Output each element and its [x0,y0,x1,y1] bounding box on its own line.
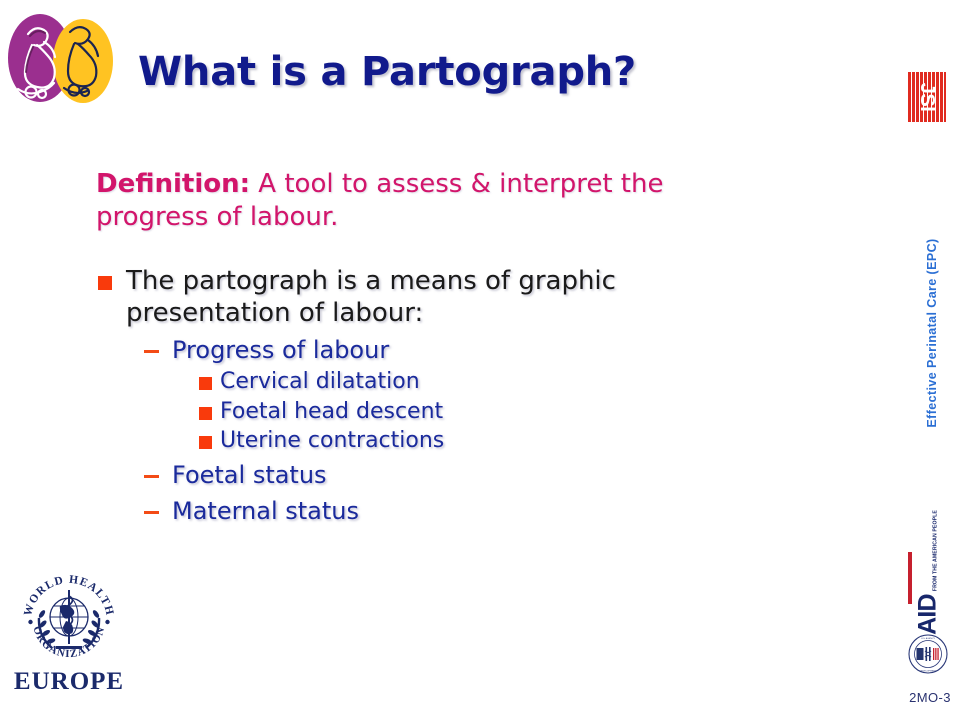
usaid-red-bar [908,552,912,604]
bullet-level2-progress: Progress of labour [96,336,756,366]
bullet-text: Foetal head descent [220,399,443,424]
bullet-level2-foetal-status: Foetal status [96,461,756,491]
bullet-text: Progress of labour [172,336,389,364]
slide-title: What is a Partograph? [138,50,878,94]
square-bullet-icon [199,436,212,449]
bullet-level2-maternal-status: Maternal status [96,497,756,527]
dash-bullet-icon [144,475,159,478]
bullet-level3-uterine-contractions: Uterine contractions [96,428,756,455]
epc-vertical-text: Effective Perinatal Care (EPC) [925,238,939,427]
square-bullet-icon [199,407,212,420]
bullet-level3-cervical-dilatation: Cervical dilatation [96,369,756,396]
who-europe-logo: WORLD HEALTH ORGANIZATION [8,568,130,713]
square-bullet-icon [199,377,212,390]
bullet-text: Foetal status [172,461,327,489]
usaid-logo-icon: USAID FROM THE AMERICAN PEOPLE [900,548,956,630]
epc-vertical-caption: Effective Perinatal Care (EPC) [920,228,944,438]
slide-canvas: What is a Partograph? Definition: A tool… [0,0,960,720]
bullet-text: Uterine contractions [220,428,444,453]
svg-text:U.S. AGENCY: U.S. AGENCY [921,637,936,640]
definition-paragraph: Definition: A tool to assess & interpret… [96,168,756,235]
usaid-tagline: FROM THE AMERICAN PEOPLE [933,510,940,591]
svg-text:DEVELOPMENT: DEVELOPMENT [920,670,937,672]
who-emblem-icon: WORLD HEALTH ORGANIZATION [22,572,116,666]
bullet-text: Cervical dilatation [220,369,420,394]
epc-mother-child-logo-icon [4,6,116,108]
bullet-level3-foetal-head-descent: Foetal head descent [96,399,756,426]
slide-number: 2MO-3 [902,690,958,705]
slide-body: Definition: A tool to assess & interpret… [96,168,756,527]
dash-bullet-icon [144,350,159,353]
definition-label: Definition: [96,169,250,199]
square-bullet-icon [98,276,112,290]
jsi-logo-icon: JSI [908,72,946,122]
jsi-logo-label: JSI [908,72,946,122]
bullet-text: The partograph is a means of graphic pre… [126,266,616,329]
dash-bullet-icon [144,511,159,514]
usaid-seal-icon: U.S. AGENCY DEVELOPMENT [908,634,948,674]
who-region-label: EUROPE [8,668,130,696]
bullet-text: Maternal status [172,497,359,525]
bullet-level1: The partograph is a means of graphic pre… [96,265,756,331]
